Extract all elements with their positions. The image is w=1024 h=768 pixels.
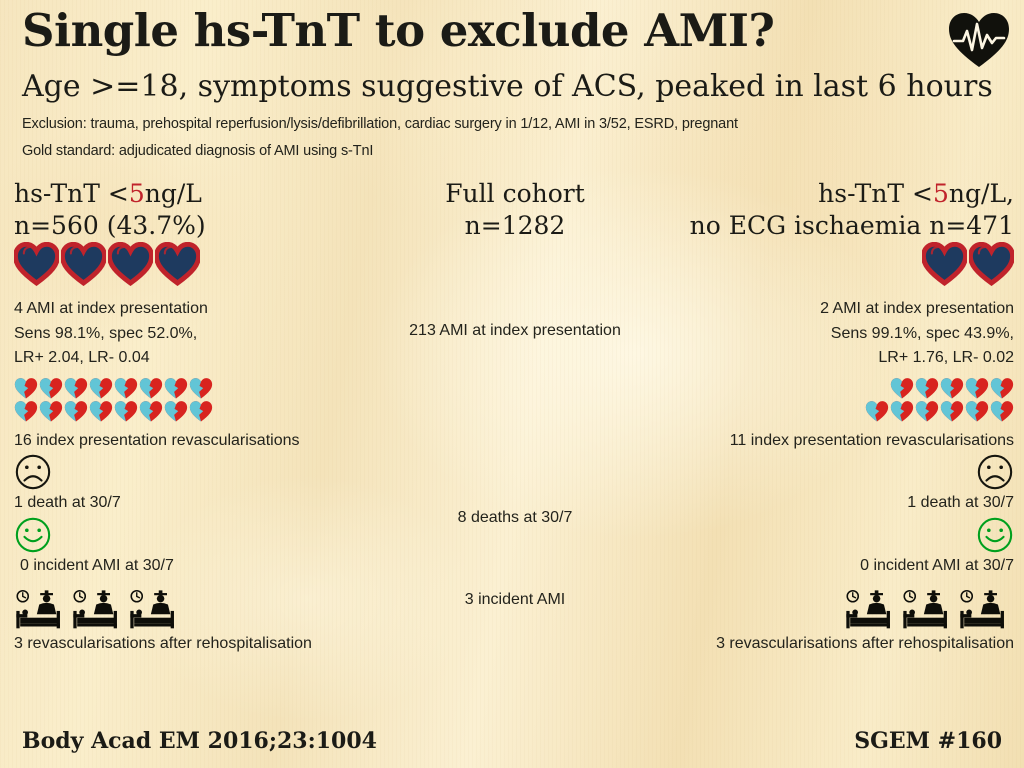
hospital-bed-icon <box>843 588 900 632</box>
broken-heart-icon <box>189 377 214 400</box>
left-heading-n: n=560 (43.7%) <box>14 210 314 242</box>
column-full-cohort: Full cohort n=1282 213 AMI at index pres… <box>340 178 690 613</box>
heart-icon <box>920 242 967 287</box>
right-rehosp-line: 3 revascularisations after rehospitalisa… <box>594 632 1014 657</box>
broken-heart-icon <box>64 377 89 400</box>
column-low-tnt: hs-TnT <5ng/L n=560 (43.7%) 4 AMI at ind… <box>14 178 314 657</box>
broken-heart-icon <box>889 400 914 423</box>
left-broken-heart-row-2 <box>14 400 314 423</box>
broken-heart-icon <box>14 400 39 423</box>
broken-heart-icon <box>939 377 964 400</box>
broken-heart-icon <box>914 400 939 423</box>
right-ami-line: 2 AMI at index presentation <box>684 297 1014 322</box>
heart-icon <box>61 242 108 287</box>
right-broken-heart-row-2 <box>684 400 1014 423</box>
broken-heart-icon <box>114 377 139 400</box>
right-death-line: 1 death at 30/7 <box>684 491 1014 516</box>
left-death-line: 1 death at 30/7 <box>14 491 314 516</box>
right-heading-post: ng/L, <box>949 179 1014 208</box>
mid-column-heading: Full cohort n=1282 <box>340 178 690 242</box>
broken-heart-icon <box>89 400 114 423</box>
broken-heart-icon <box>989 400 1014 423</box>
broken-heart-icon <box>139 400 164 423</box>
broken-heart-icon <box>114 400 139 423</box>
broken-heart-icon <box>164 400 189 423</box>
broken-heart-icon <box>889 377 914 400</box>
right-stats-line1: Sens 99.1%, spec 43.9%, <box>684 322 1014 347</box>
smiley-face-icon <box>976 516 1014 554</box>
left-incident-icon-row <box>14 516 314 554</box>
broken-heart-icon <box>64 400 89 423</box>
right-revasc-line: 11 index presentation revascularisations <box>594 429 1014 454</box>
right-bed-icon-row <box>684 588 1014 632</box>
left-heading-post: ng/L <box>145 179 202 208</box>
mid-ami-line: 213 AMI at index presentation <box>340 319 690 344</box>
right-incident-line: 0 incident AMI at 30/7 <box>684 554 1014 579</box>
smiley-face-icon <box>14 516 52 554</box>
right-stats-line2: LR+ 1.76, LR- 0.02 <box>684 346 1014 371</box>
right-heading-pre: hs-TnT < <box>818 179 933 208</box>
sad-face-icon <box>14 453 52 491</box>
left-stats-line1: Sens 98.1%, spec 52.0%, <box>14 322 314 347</box>
hospital-bed-icon <box>957 588 1014 632</box>
broken-heart-icon <box>164 377 189 400</box>
broken-heart-icon <box>964 400 989 423</box>
left-bed-icon-row <box>14 588 314 632</box>
left-heading-pre: hs-TnT < <box>14 179 129 208</box>
right-column-heading: hs-TnT <5ng/L, no ECG ischaemia n=471 <box>684 178 1014 242</box>
heart-ecg-icon <box>946 10 1012 70</box>
left-column-heading: hs-TnT <5ng/L n=560 (43.7%) <box>14 178 314 242</box>
citation-text: Body Acad EM 2016;23:1004 <box>22 728 377 754</box>
hospital-bed-icon <box>14 588 71 632</box>
right-incident-icon-row <box>684 516 1014 554</box>
broken-heart-icon <box>189 400 214 423</box>
page-title: Single hs-TnT to exclude AMI? <box>22 8 774 53</box>
mid-heading-n: n=1282 <box>340 210 690 242</box>
broken-heart-icon <box>964 377 989 400</box>
broken-heart-icon <box>89 377 114 400</box>
broken-heart-icon <box>39 377 64 400</box>
broken-heart-icon <box>139 377 164 400</box>
left-heading-threshold: 5 <box>129 179 145 208</box>
broken-heart-icon <box>939 400 964 423</box>
heart-icon <box>14 242 61 287</box>
left-ami-line: 4 AMI at index presentation <box>14 297 314 322</box>
right-ami-heart-row <box>684 242 1014 287</box>
right-heading-n: no ECG ischaemia n=471 <box>644 210 1014 242</box>
left-broken-heart-row-1 <box>14 377 314 400</box>
hospital-bed-icon <box>71 588 128 632</box>
broken-heart-icon <box>914 377 939 400</box>
source-text: SGEM #160 <box>854 728 1002 754</box>
hospital-bed-icon <box>900 588 957 632</box>
broken-heart-icon <box>989 377 1014 400</box>
left-ami-heart-row <box>14 242 314 287</box>
exclusion-criteria-text: Exclusion: trauma, prehospital reperfusi… <box>22 116 738 132</box>
mid-incident-line: 3 incident AMI <box>340 588 690 613</box>
left-revasc-line: 16 index presentation revascularisations <box>14 429 314 454</box>
mid-heading-title: Full cohort <box>340 178 690 210</box>
gold-standard-text: Gold standard: adjudicated diagnosis of … <box>22 143 373 159</box>
hospital-bed-icon <box>128 588 185 632</box>
left-stats-line2: LR+ 2.04, LR- 0.04 <box>14 346 314 371</box>
right-broken-heart-row-1 <box>684 377 1014 400</box>
left-incident-line: 0 incident AMI at 30/7 <box>14 554 314 579</box>
broken-heart-icon <box>864 400 889 423</box>
sad-face-icon <box>976 453 1014 491</box>
left-rehosp-line: 3 revascularisations after rehospitalisa… <box>14 632 434 657</box>
broken-heart-icon <box>14 377 39 400</box>
heart-icon <box>108 242 155 287</box>
heart-icon <box>967 242 1014 287</box>
broken-heart-icon <box>39 400 64 423</box>
left-death-icon-row <box>14 453 314 491</box>
right-death-icon-row <box>684 453 1014 491</box>
right-heading-threshold: 5 <box>933 179 949 208</box>
mid-death-line: 8 deaths at 30/7 <box>340 506 690 531</box>
heart-icon <box>155 242 202 287</box>
page-subtitle: Age >=18, symptoms suggestive of ACS, pe… <box>22 72 993 102</box>
column-low-tnt-no-ischaemia: hs-TnT <5ng/L, no ECG ischaemia n=471 2 … <box>684 178 1014 657</box>
